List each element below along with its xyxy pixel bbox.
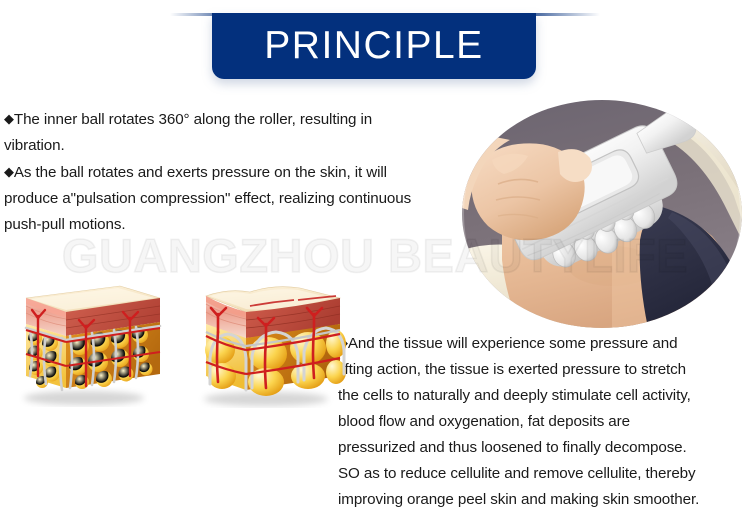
paragraph-line: blood flow and oxygenation, fat deposits… bbox=[338, 409, 744, 435]
paragraph-line: ◆The inner ball rotates 360° along the r… bbox=[4, 106, 464, 133]
principle-paragraph-top: ◆The inner ball rotates 360° along the r… bbox=[4, 106, 464, 238]
header-banner: PRINCIPLE bbox=[212, 13, 536, 79]
skin-diagram-cellulite bbox=[188, 266, 350, 408]
principle-paragraph-bottom: ◆And the tissue will experience some pre… bbox=[338, 330, 744, 513]
paragraph-line: push-pull motions. bbox=[4, 212, 464, 238]
diamond-bullet-icon: ◆ bbox=[4, 111, 14, 126]
paragraph-line: ◆As the ball rotates and exerts pressure… bbox=[4, 159, 464, 186]
promo-page: PRINCIPLE ◆The inner ball rotates 360° a… bbox=[0, 0, 750, 518]
paragraph-line: ◆And the tissue will experience some pre… bbox=[338, 330, 744, 357]
paragraph-line: SO as to reduce cellulite and remove cel… bbox=[338, 461, 744, 487]
diamond-bullet-icon: ◆ bbox=[4, 164, 14, 179]
paragraph-line: improving orange peel skin and making sk… bbox=[338, 487, 744, 513]
page-title: PRINCIPLE bbox=[264, 26, 483, 67]
paragraph-line: produce a"pulsation compression" effect,… bbox=[4, 186, 464, 212]
paragraph-line: the cells to naturally and deeply stimul… bbox=[338, 383, 744, 409]
skin-diagram-normal bbox=[8, 272, 168, 407]
treatment-photo bbox=[462, 100, 742, 328]
paragraph-line: lifting action, the tissue is exerted pr… bbox=[338, 357, 744, 383]
paragraph-line: vibration. bbox=[4, 133, 464, 159]
paragraph-line: pressurized and thus loosened to finally… bbox=[338, 435, 744, 461]
